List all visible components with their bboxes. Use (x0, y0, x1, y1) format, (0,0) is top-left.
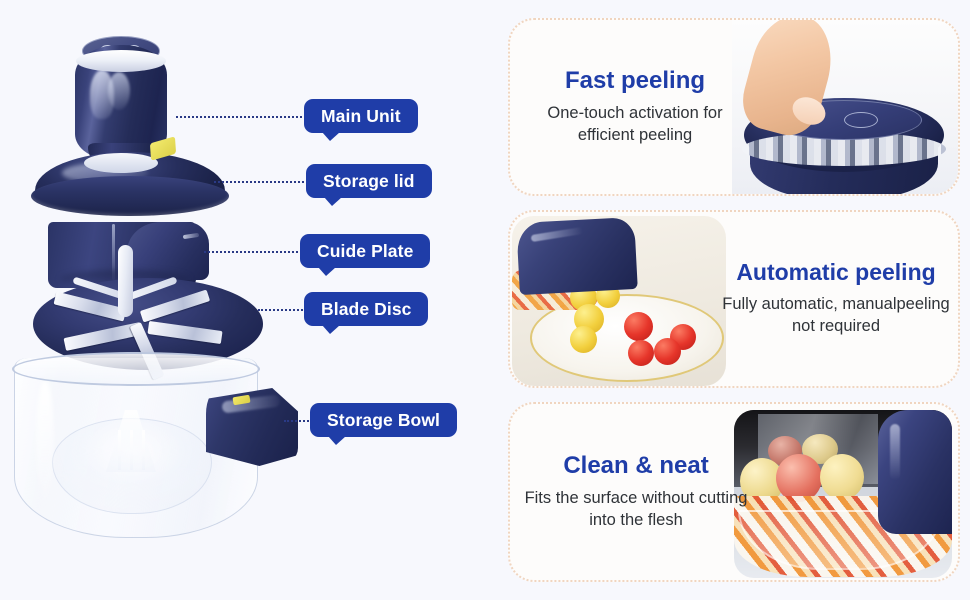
callout-badge-guide-plate[interactable]: Cuide Plate (300, 234, 430, 268)
callout-badge-storage-lid[interactable]: Storage lid (306, 164, 432, 198)
leader-line-guide-plate (204, 251, 302, 253)
card-body: One-touch activation for efficient peeli… (524, 103, 746, 147)
card-title: Clean & neat (563, 453, 708, 479)
leader-line-storage-lid (214, 181, 308, 183)
card-title: Automatic peeling (736, 260, 935, 285)
clean-and-neat-photo (734, 410, 952, 578)
red-tomato-icon (628, 340, 654, 366)
callout-badge-storage-bowl[interactable]: Storage Bowl (310, 403, 457, 437)
callout-label: Cuide Plate (317, 241, 413, 262)
clean-and-neat-text-block: Clean & neat Fits the surface without cu… (524, 404, 748, 580)
storage-lid-rim (31, 176, 229, 216)
storage-bowl-rim (12, 352, 260, 386)
automatic-peeling-photo (512, 216, 726, 386)
fast-peeling-photo (732, 20, 958, 194)
card-body: Fully automatic, manualpeeling not requi… (722, 294, 950, 338)
red-tomato-icon (654, 338, 681, 365)
callout-label: Storage Bowl (327, 410, 440, 431)
feature-card-clean-and-neat[interactable]: Clean & neat Fits the surface without cu… (508, 402, 960, 582)
product-diagram-panel: Main Unit Storage lid Cuide Plate Blade … (0, 0, 500, 600)
storage-bowl-highlight (36, 380, 54, 500)
callout-badge-main-unit[interactable]: Main Unit (304, 99, 418, 133)
callout-label: Main Unit (321, 106, 401, 127)
callout-badge-blade-disc[interactable]: Blade Disc (304, 292, 428, 326)
storage-lid-opening (84, 153, 158, 173)
lid-button-icon (844, 112, 878, 128)
blade-disc-center-post (118, 245, 133, 317)
storage-bowl-cone-rib (118, 430, 121, 470)
navy-chute-shape (878, 410, 952, 534)
red-tomato-icon (624, 312, 653, 341)
main-unit-chrome-ring (76, 50, 166, 72)
card-body: Fits the surface without cutting into th… (524, 488, 748, 532)
callout-label: Storage lid (323, 171, 415, 192)
peeled-fruit-icon (776, 454, 822, 502)
leader-line-blade-disc (258, 309, 306, 311)
storage-bowl-cone-rib (130, 430, 133, 470)
callout-label: Blade Disc (321, 299, 411, 320)
automatic-peeling-text-block: Automatic peeling Fully automatic, manua… (722, 212, 950, 386)
feature-cards-panel: Fast peeling One-touch activation for ef… (500, 0, 970, 600)
main-unit-highlight (108, 72, 130, 110)
feature-card-fast-peeling[interactable]: Fast peeling One-touch activation for ef… (508, 18, 960, 196)
fast-peeling-text-block: Fast peeling One-touch activation for ef… (524, 20, 746, 194)
yellow-tomato-icon (570, 326, 597, 353)
discharge-chute-shape (516, 217, 638, 295)
peeled-fruit-icon (820, 454, 864, 500)
leader-line-main-unit (176, 116, 306, 118)
storage-bowl-cone-rib (142, 430, 145, 470)
card-title: Fast peeling (565, 68, 705, 94)
infographic-stage: Main Unit Storage lid Cuide Plate Blade … (0, 0, 970, 600)
feature-card-automatic-peeling[interactable]: Automatic peeling Fully automatic, manua… (508, 210, 960, 388)
leader-line-storage-bowl (284, 420, 312, 422)
